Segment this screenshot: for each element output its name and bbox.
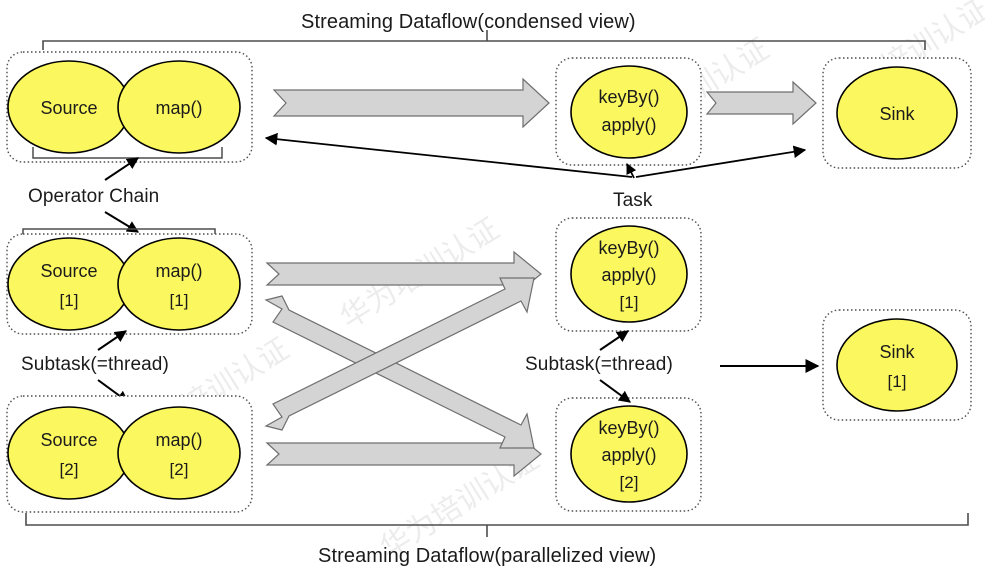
task-box-condensed: [556, 58, 701, 165]
node-apply-2-label: apply(): [601, 445, 656, 465]
node-map-1-label: map(): [155, 261, 202, 281]
title-parallelized-view: Streaming Dataflow(parallelized view): [318, 545, 656, 568]
title-condensed-view: Streaming Dataflow(condensed view): [301, 11, 636, 34]
node-map-2-label: map(): [155, 430, 202, 450]
node-source-1-index: [1]: [60, 291, 79, 310]
node-source-2-index: [2]: [60, 460, 79, 479]
node-sink-label: Sink: [879, 104, 915, 124]
arrow-subtask-right-up: [600, 331, 628, 350]
node-keyby-1-label: keyBy(): [598, 238, 659, 258]
label-task: Task: [613, 190, 652, 212]
node-map-1: [118, 238, 240, 330]
diagram-canvas: Source map() keyBy() apply() Sink Source…: [0, 0, 985, 574]
node-keyby-apply: [571, 66, 687, 158]
dataflow-arrow-1: [274, 79, 549, 127]
dataflow-arrow-2: [707, 82, 816, 124]
node-keyby-1-index: [1]: [620, 293, 639, 312]
label-operator-chain: Operator Chain: [28, 186, 159, 208]
dataflow-arrow-5: [266, 296, 534, 448]
node-keyby-2-label: keyBy(): [598, 418, 659, 438]
node-sink-1: [837, 319, 957, 411]
node-source-label: Source: [40, 98, 97, 118]
node-keyby-label: keyBy(): [598, 87, 659, 107]
node-apply-1-label: apply(): [601, 265, 656, 285]
flink-dataflow-diagram: 华为培训认证 华为培训认证 华为培训认证 华为培训认证 华为培训认证: [0, 0, 985, 574]
node-map-1-index: [1]: [170, 291, 189, 310]
node-map-2-index: [2]: [170, 460, 189, 479]
operator-chain-box-2: [7, 396, 252, 512]
node-source-2: [8, 407, 130, 499]
node-map-2: [118, 407, 240, 499]
sink-box-1: [823, 310, 971, 420]
node-source-1: [8, 238, 130, 330]
node-keyby-2-index: [2]: [620, 473, 639, 492]
node-sink-1-label: Sink: [879, 342, 915, 362]
node-map-label: map(): [155, 98, 202, 118]
dataflow-arrow-6: [266, 278, 534, 430]
node-sink-1-index: [1]: [888, 372, 907, 391]
dataflow-arrow-4: [267, 432, 541, 476]
node-source-2-label: Source: [40, 430, 97, 450]
bracket-parallelized-view: [26, 513, 968, 537]
label-subtask-left: Subtask(=thread): [21, 354, 169, 376]
operator-chain-box-1: [7, 234, 252, 334]
label-subtask-right: Subtask(=thread): [525, 354, 673, 376]
task-pointer-lines: [266, 138, 805, 178]
dataflow-arrow-3: [267, 252, 541, 296]
node-apply-label: apply(): [601, 115, 656, 135]
node-source-1-label: Source: [40, 261, 97, 281]
